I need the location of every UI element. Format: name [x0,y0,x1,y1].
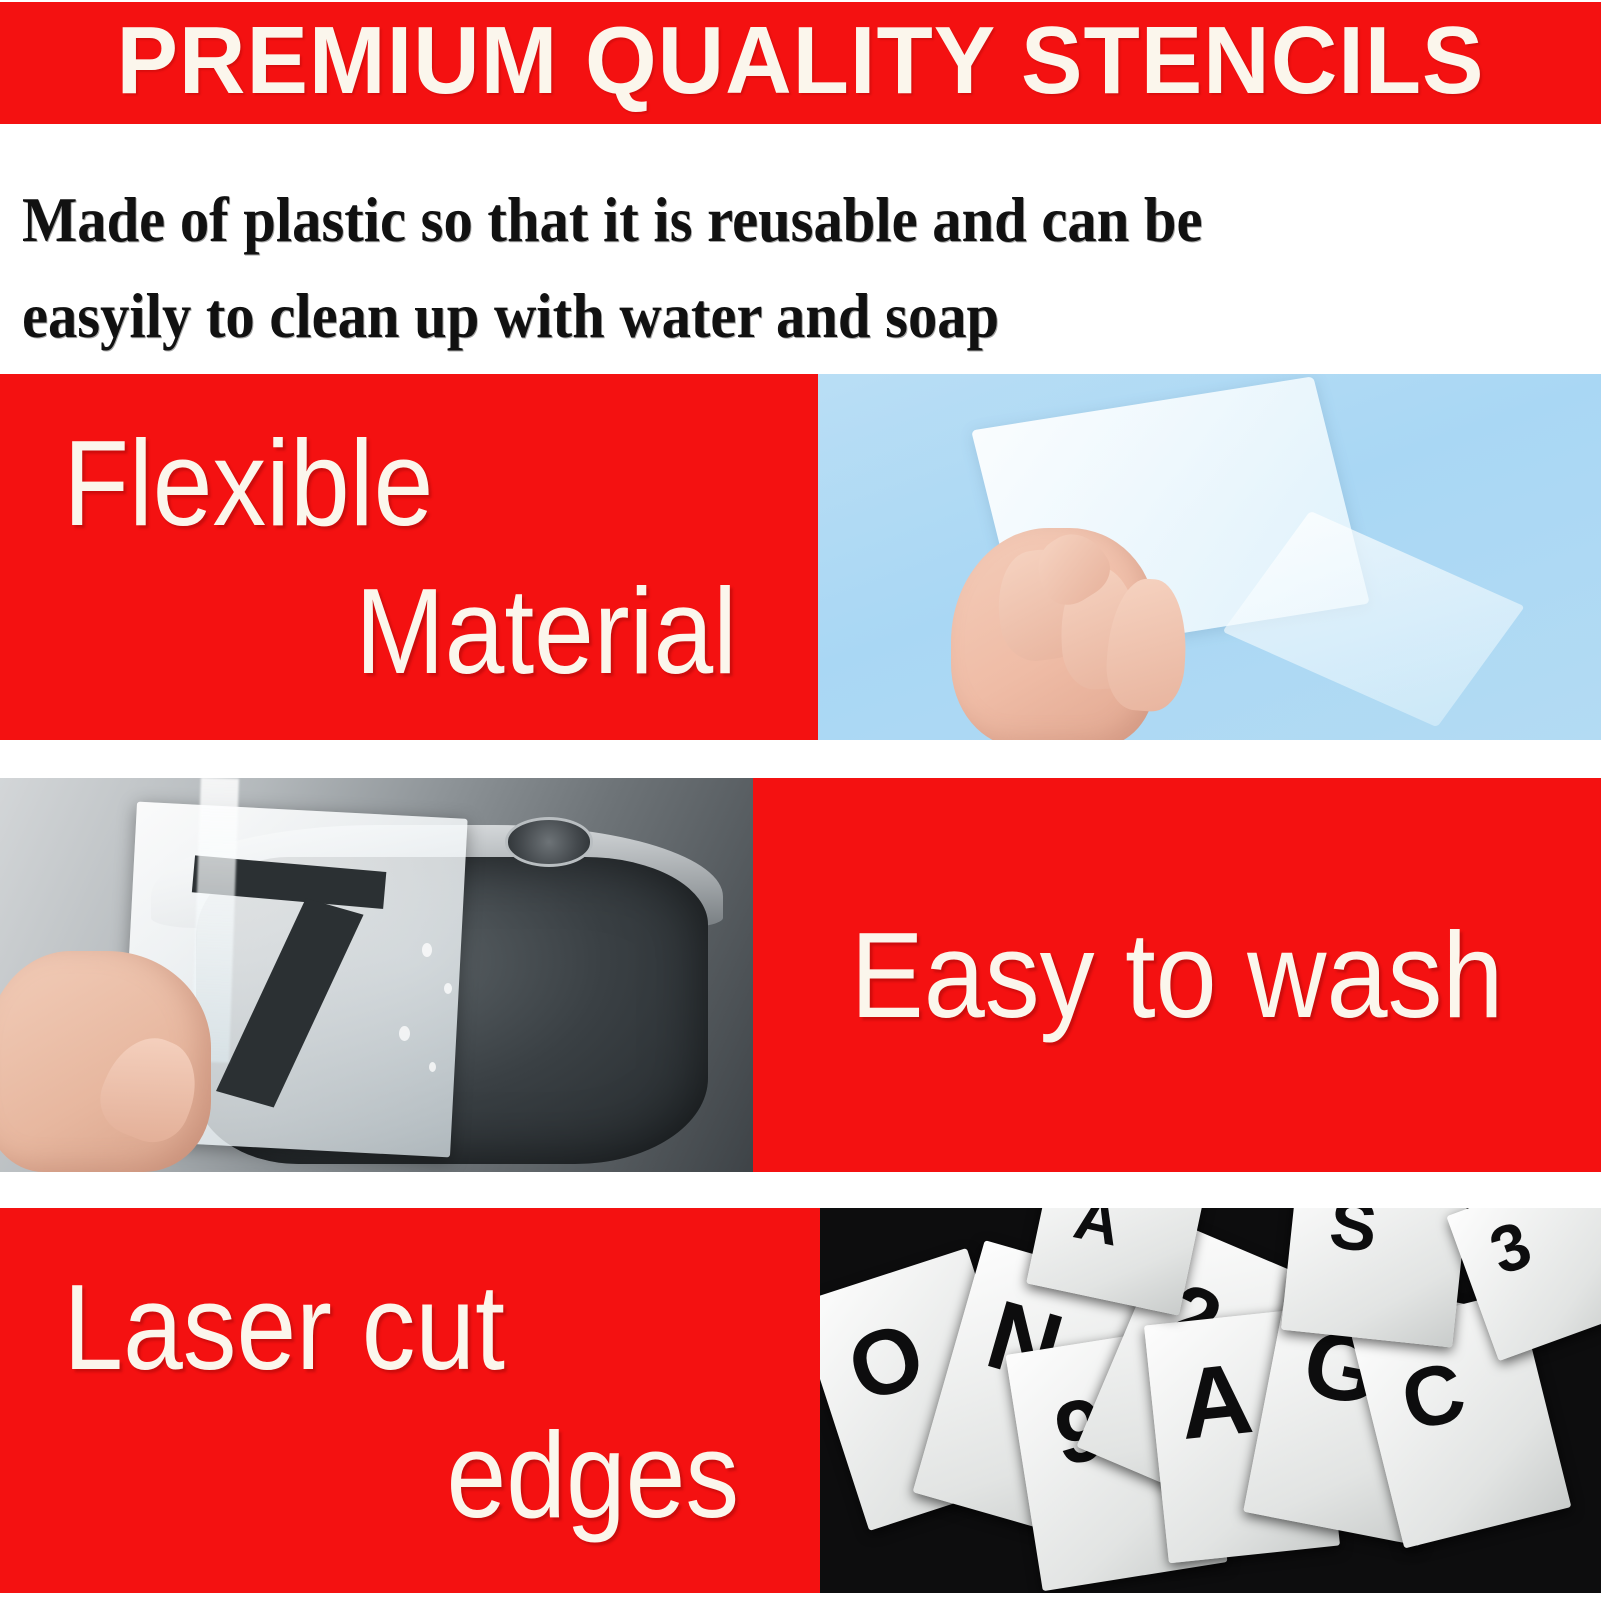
product-description: Made of plastic so that it is reusable a… [0,172,1601,362]
stencil-cutout-stem [215,898,362,1107]
stencil-glyph: A [1175,1348,1257,1455]
photo-stencil-sheets-on-black: O N 9 2 A G C S 3 [820,1208,1601,1593]
feature-label-line-1: Easy to wash [795,900,1558,1050]
stencil-glyph: C [1393,1348,1472,1444]
feature-label-panel-easy-to-wash: Easy to wash [753,778,1601,1172]
feature-row-easy-to-wash: Easy to wash [0,778,1601,1172]
feature-photo-flexible-material [818,374,1601,740]
feature-label-line-2: edges [98,1401,820,1549]
stencil-glyph: O [838,1307,934,1417]
feature-photo-laser-cut-edges: O N 9 2 A G C S 3 [820,1208,1601,1593]
header-banner: PREMIUM QUALITY STENCILS [0,2,1601,124]
photo-hand-holding-stencil [818,374,1601,740]
water-droplet [422,943,432,957]
description-line-2: easyily to clean up with water and soap [22,268,1476,364]
water-droplet [429,1062,436,1072]
feature-label-panel-laser-cut-edges: Laser cut edges [0,1208,820,1593]
feature-row-flexible-material: Flexible Material [0,374,1601,740]
stencil-glyph: 3 [1482,1210,1539,1285]
stencil-card: S [1281,1208,1469,1347]
feature-photo-easy-to-wash [0,778,753,1172]
stencil-glyph: A [1069,1208,1126,1257]
feature-label-panel-flexible-material: Flexible Material [0,374,818,740]
photo-washing-stencil-in-sink [0,778,753,1172]
feature-row-laser-cut-edges: Laser cut edges O N 9 2 A G C [0,1208,1601,1593]
feature-label-line-1: Flexible [0,409,720,557]
feature-label-line-2: Material [98,557,818,705]
stencil-glyph: S [1326,1208,1380,1263]
sink-drain [505,817,594,866]
description-line-1: Made of plastic so that it is reusable a… [22,172,1476,268]
page-title: PREMIUM QUALITY STENCILS [117,13,1485,109]
feature-label-line-1: Laser cut [0,1253,722,1401]
